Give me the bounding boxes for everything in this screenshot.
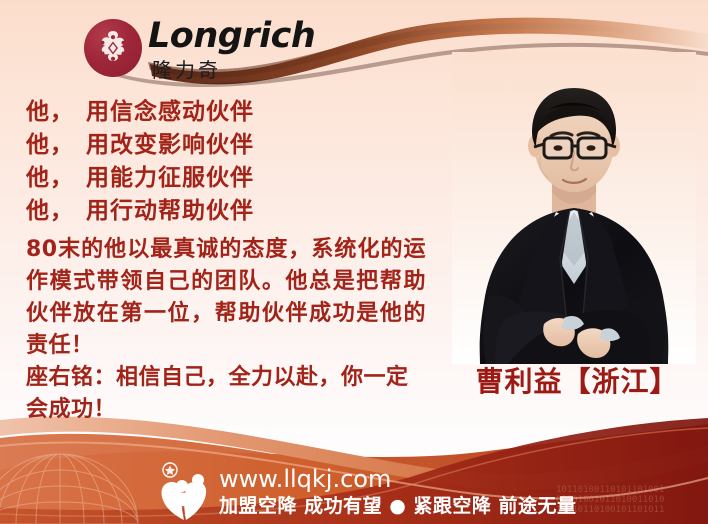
- motto-text: 座右铭：相信自己，全力以赴，你一定会成功！: [26, 362, 426, 426]
- heart-family-icon: [158, 462, 220, 522]
- slogan-line-4: 他，用行动帮助伙伴: [26, 195, 446, 228]
- footer-text-block: www.llqkj.com 加盟空降 成功有望 ● 紧跟空降 前途无量: [219, 466, 689, 518]
- promo-poster: 10110100110101101001 0110100101101001101…: [0, 0, 708, 524]
- longrich-emblem-icon: [84, 19, 142, 77]
- slogan-predicate-3: 用能力征服伙伴: [86, 165, 254, 191]
- wireframe-globe-icon: [0, 454, 138, 524]
- brand-wordmark: Longrich: [148, 16, 315, 56]
- footer-slogan: 加盟空降 成功有望 ● 紧跟空降 前途无量: [219, 494, 689, 518]
- person-name-plate: 曹利益【浙江】: [455, 365, 699, 399]
- slogan-subject-3: 他，: [26, 165, 74, 191]
- slogan-line-3: 他，用能力征服伙伴: [26, 162, 446, 195]
- slogan-subject-4: 他，: [26, 198, 74, 224]
- bio-paragraph: 80末的他以最真诚的态度，系统化的运作模式带领自己的团队。他总是把帮助伙伴放在第…: [26, 234, 426, 362]
- slogan-line-1: 他，用信念感动伙伴: [26, 96, 446, 129]
- slogan-predicate-4: 用行动帮助伙伴: [86, 198, 254, 224]
- portrait-photo: [452, 52, 696, 364]
- slogan-predicate-2: 用改变影响伙伴: [86, 132, 254, 158]
- brand-logo: Longrich 隆力奇: [84, 16, 384, 88]
- slogan-predicate-1: 用信念感动伙伴: [86, 99, 254, 125]
- footer-website-url[interactable]: www.llqkj.com: [219, 466, 689, 492]
- slogan-line-2: 他，用改变影响伙伴: [26, 129, 446, 162]
- brand-chinese-name: 隆力奇: [152, 58, 221, 82]
- slogan-subject-1: 他，: [26, 99, 74, 125]
- copy-block: 他，用信念感动伙伴 他，用改变影响伙伴 他，用能力征服伙伴 他，用行动帮助伙伴 …: [26, 96, 446, 426]
- slogan-subject-2: 他，: [26, 132, 74, 158]
